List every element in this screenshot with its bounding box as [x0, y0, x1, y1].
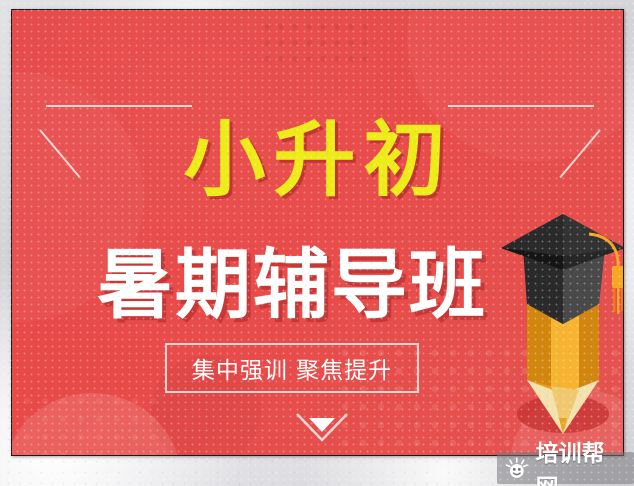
poster-subheadline: 暑期辅导班	[12, 247, 572, 323]
promo-poster: 小升初 暑期辅导班 集中强训 聚焦提升	[11, 9, 624, 456]
dot-grid-top-icon	[258, 16, 368, 66]
chevron-down-icon	[295, 410, 349, 444]
sun-smiley-icon	[505, 457, 529, 479]
tagline-box: 集中强训 聚焦提升	[165, 343, 419, 393]
watermark: 培训帮网	[497, 452, 634, 484]
watermark-text: 培训帮网	[536, 434, 626, 486]
graduation-cap-pencil-illustration	[499, 208, 624, 438]
poster-tagline: 集中强训 聚焦提升	[192, 351, 392, 385]
poster-headline: 小升初	[12, 120, 624, 202]
decor-circle-bottom-left	[11, 393, 182, 456]
page-frame: 小升初 暑期辅导班 集中强训 聚焦提升	[0, 0, 634, 486]
dot-grid-bottom-left-icon	[12, 390, 162, 456]
